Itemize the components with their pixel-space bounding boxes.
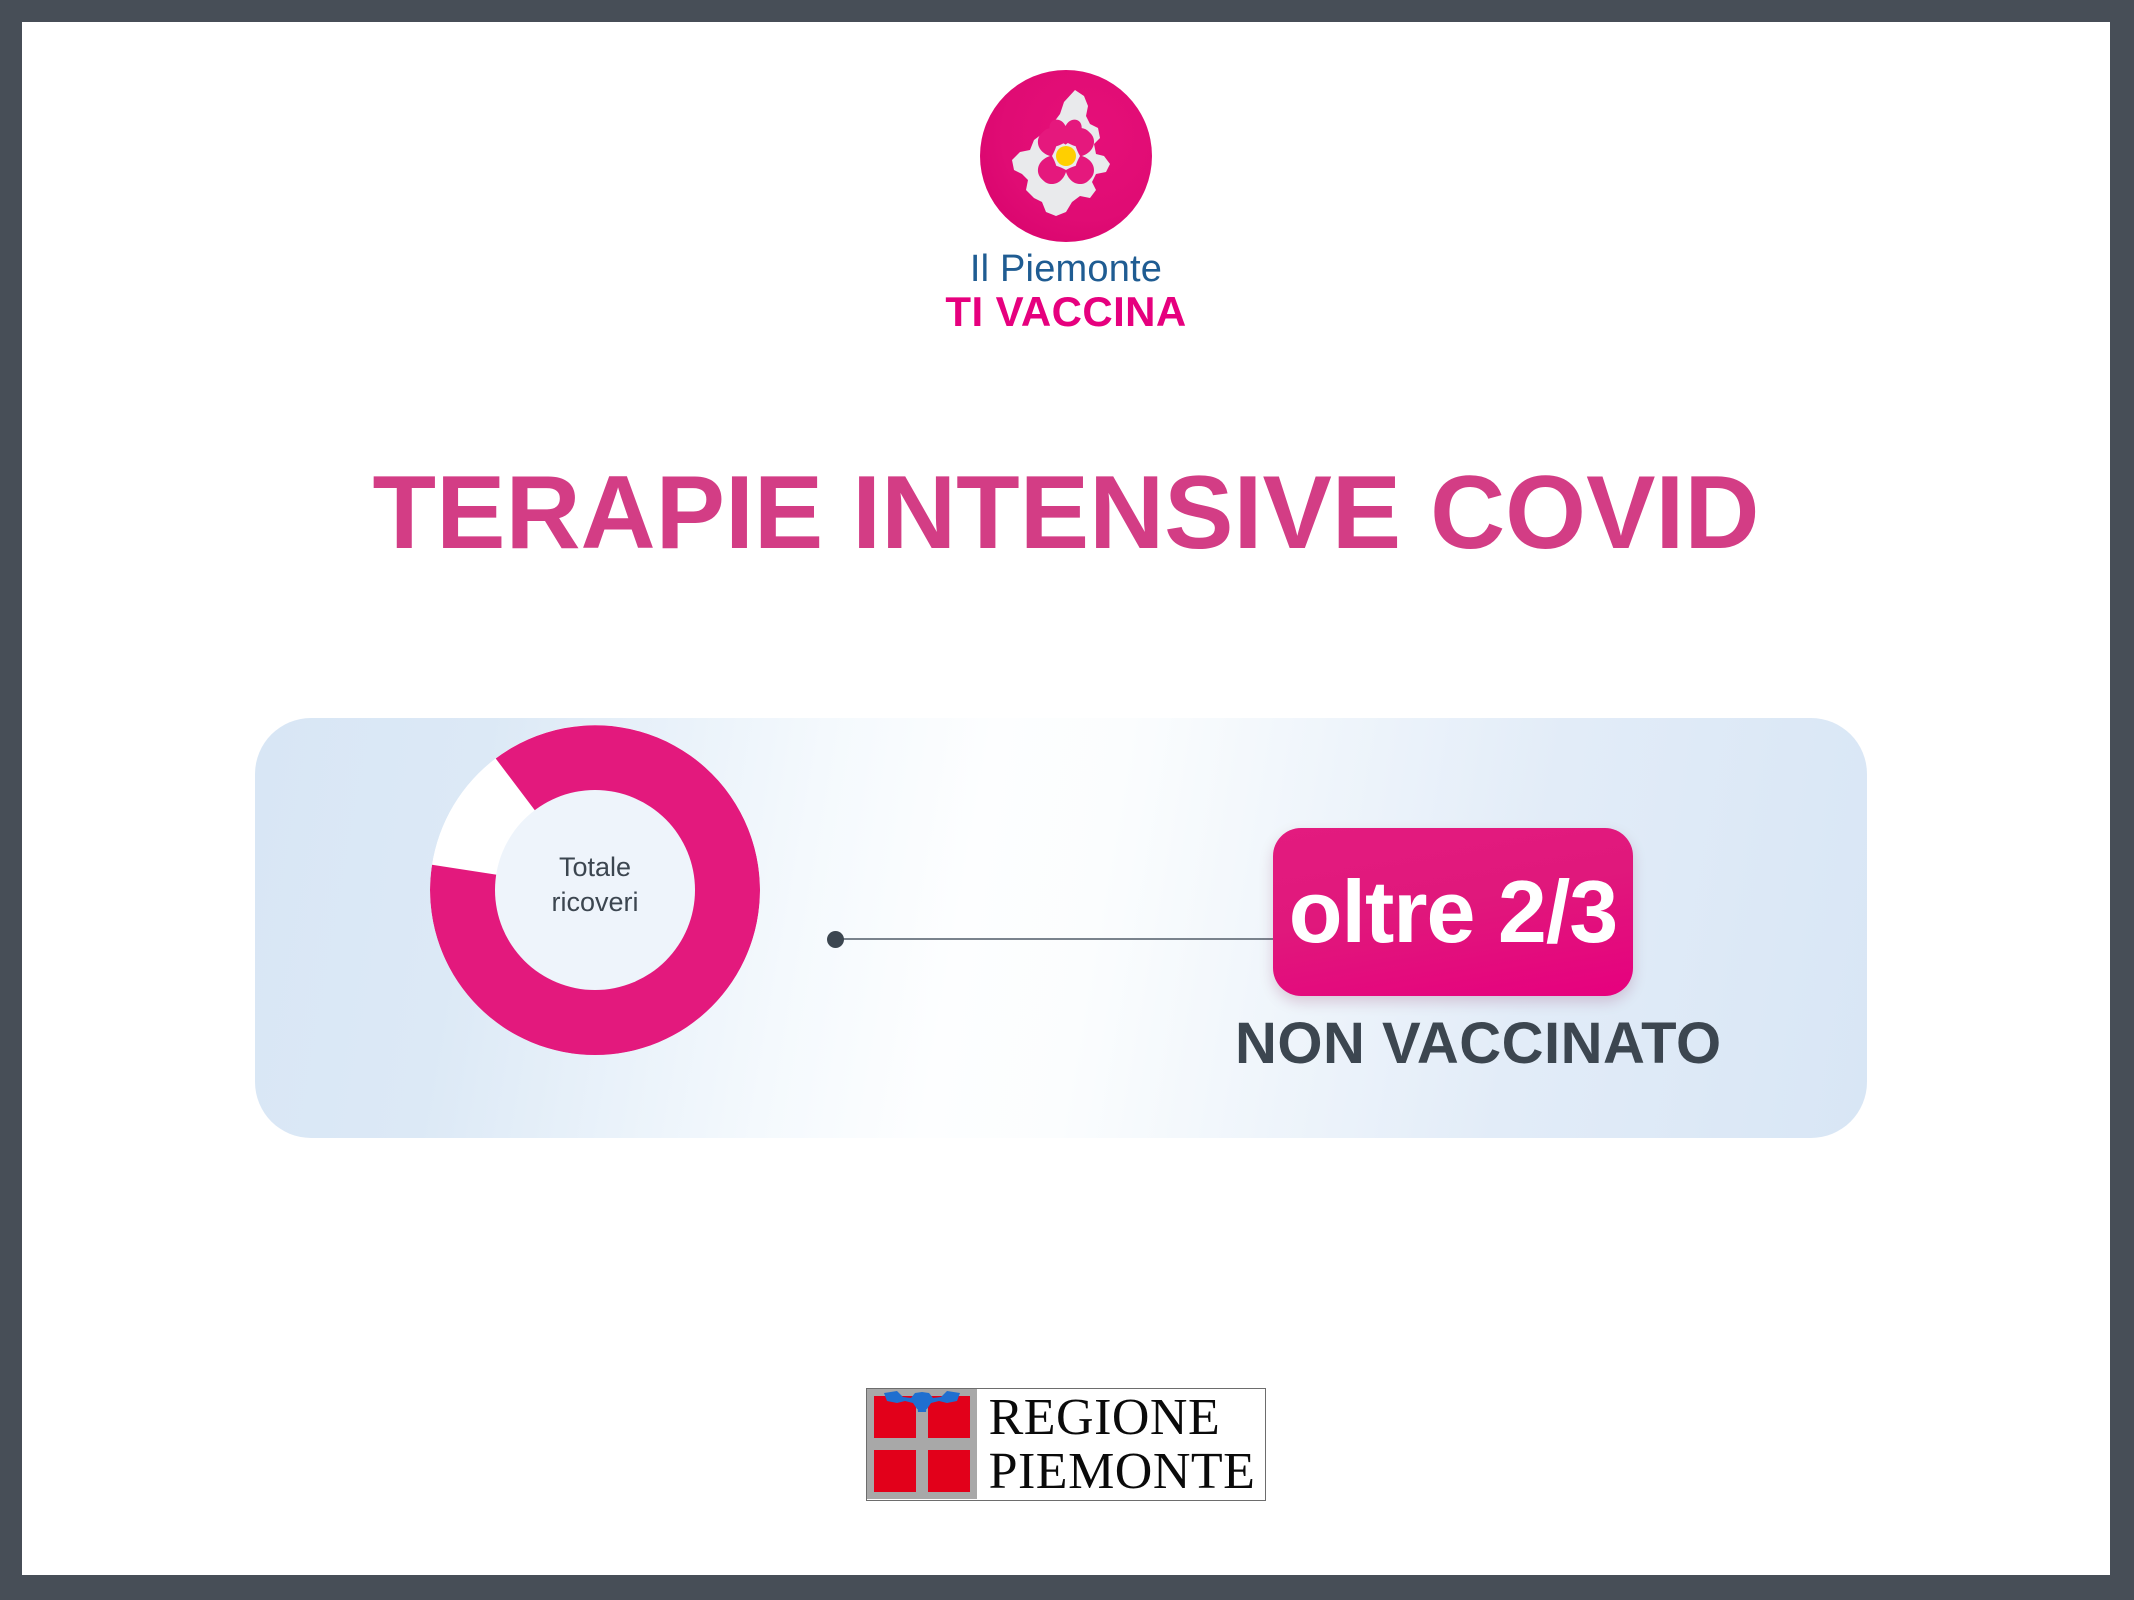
donut-center-label: Totale ricoveri	[425, 850, 765, 919]
shield-quadrant-bottom-right	[928, 1450, 970, 1492]
brand-tagline-line1: Il Piemonte	[22, 250, 2110, 290]
regione-word-line1: REGIONE	[989, 1391, 1256, 1445]
stat-card: Totale ricoveri oltre 2/3 NON VACCINATO	[255, 718, 1867, 1138]
highlight-value-pill: oltre 2/3	[1273, 828, 1633, 996]
page-title: TERAPIE INTENSIVE COVID	[22, 454, 2110, 573]
regione-piemonte-coat-of-arms-icon: REGIONE PIEMONTE	[866, 1388, 1267, 1501]
highlight-value: oltre 2/3	[1289, 868, 1617, 956]
brand-block: Il Piemonte TI VACCINA	[22, 70, 2110, 334]
regione-shield-shape	[867, 1389, 977, 1499]
donut-center-label-line2: ricoveri	[425, 885, 765, 920]
shield-quadrant-bottom-left	[874, 1450, 916, 1492]
blue-bull-crest-icon	[881, 1389, 963, 1415]
leader-dot-icon	[827, 931, 844, 948]
donut-center-label-line1: Totale	[425, 850, 765, 885]
regione-word-line2: PIEMONTE	[989, 1445, 1256, 1499]
footer-block: REGIONE PIEMONTE	[22, 1388, 2110, 1501]
piemonte-flower-map-icon	[980, 70, 1152, 242]
leader-line-icon	[836, 938, 1275, 940]
piemonte-map-shape-icon	[980, 70, 1152, 242]
brand-tagline-line2: TI VACCINA	[22, 290, 2110, 334]
slide-frame: Il Piemonte TI VACCINA TERAPIE INTENSIVE…	[0, 0, 2134, 1600]
donut-chart: Totale ricoveri	[425, 720, 765, 1060]
highlight-caption: NON VACCINATO	[1235, 1010, 1671, 1077]
slide-canvas: Il Piemonte TI VACCINA TERAPIE INTENSIVE…	[22, 22, 2110, 1575]
regione-wordmark: REGIONE PIEMONTE	[977, 1389, 1266, 1500]
